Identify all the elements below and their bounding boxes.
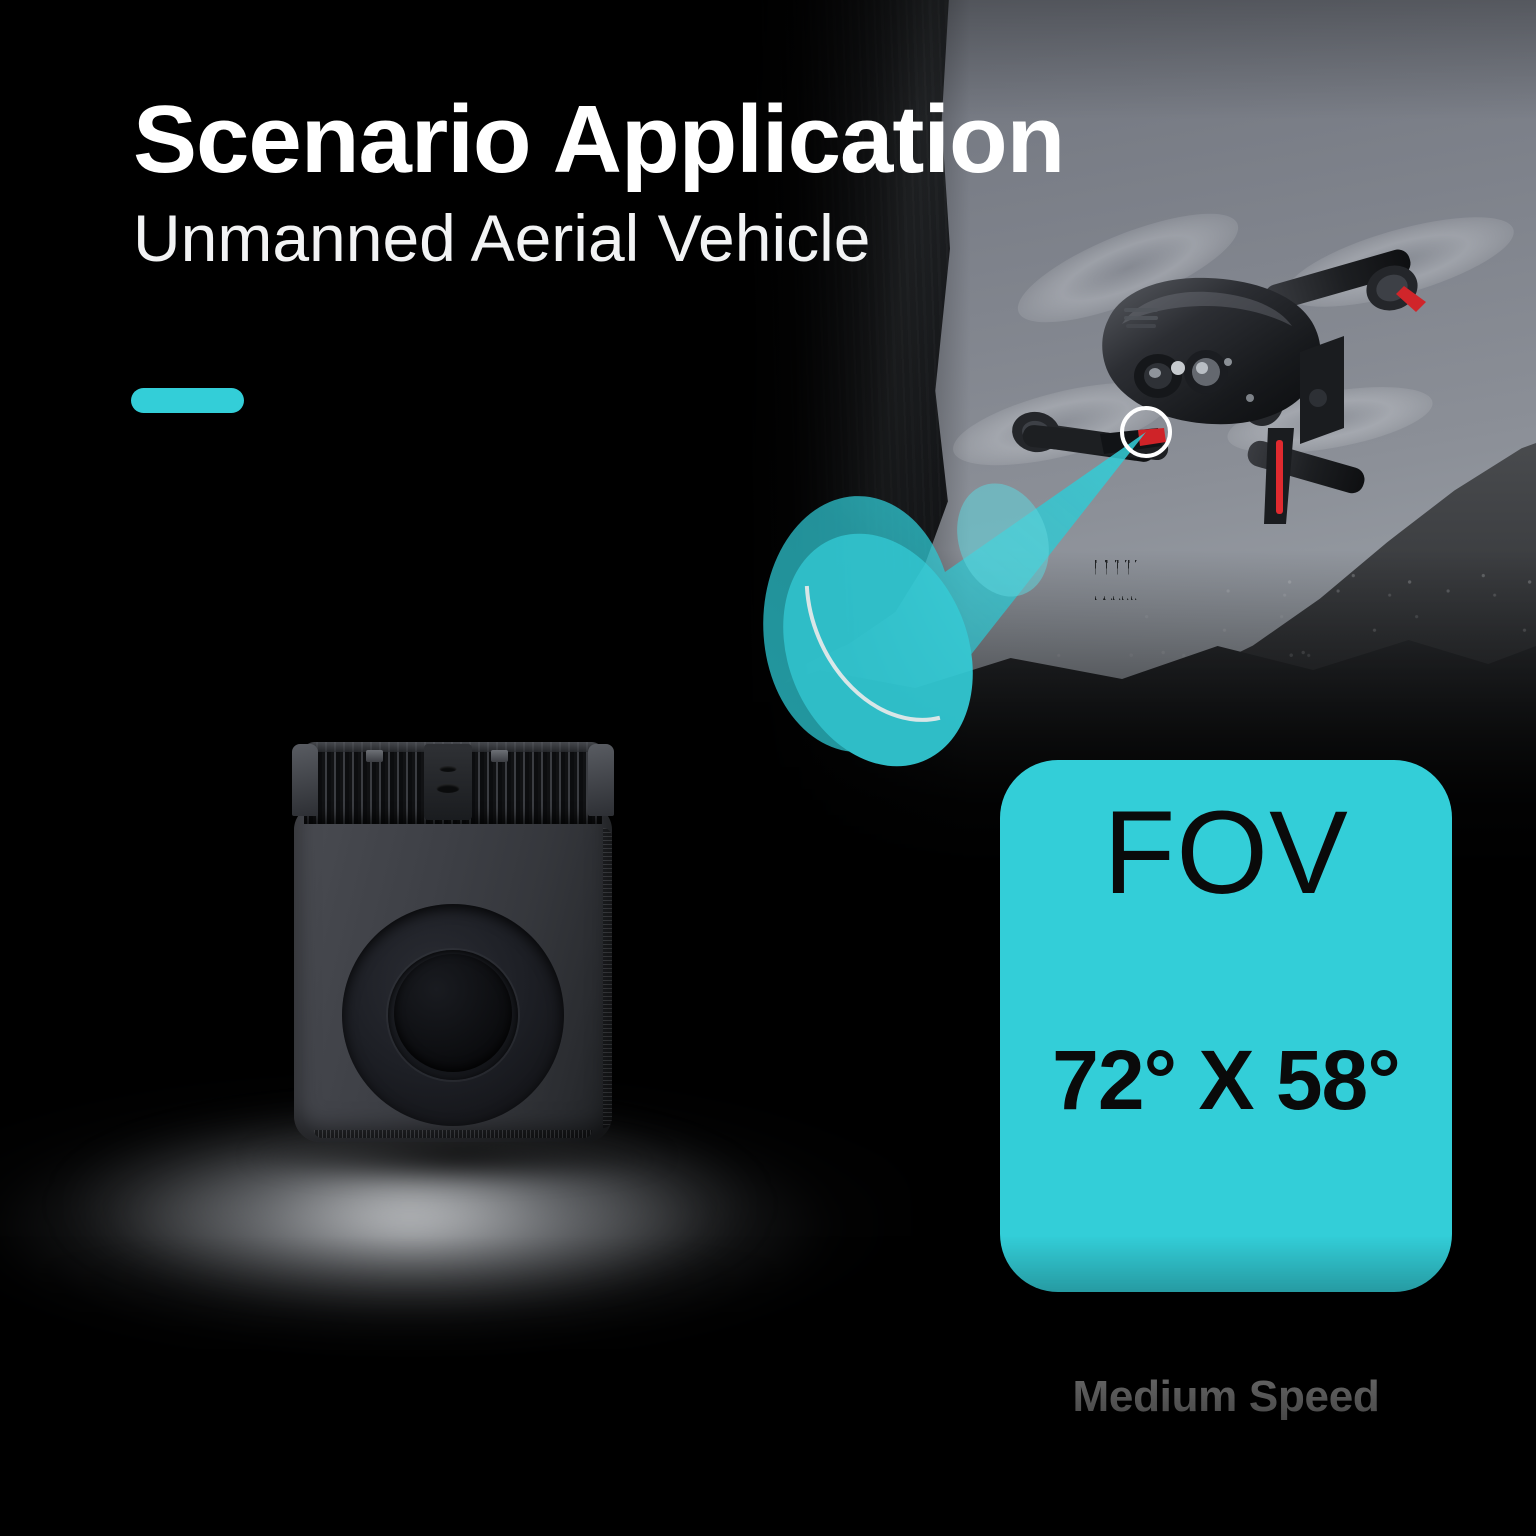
camera-side-ribs xyxy=(603,828,612,1128)
speed-caption: Medium Speed xyxy=(1000,1372,1452,1422)
camera-badge-right xyxy=(491,750,508,762)
fov-badge: FOV 72° X 58° xyxy=(1000,760,1452,1292)
accent-bar xyxy=(131,388,244,413)
camera-left-tab xyxy=(292,744,318,816)
page-subtitle: Unmanned Aerial Vehicle xyxy=(133,202,870,275)
camera-port-small xyxy=(440,766,457,772)
fov-badge-value: 72° X 58° xyxy=(1000,1038,1452,1122)
camera-connector-block xyxy=(424,744,472,820)
page-title: Scenario Application xyxy=(133,90,1064,190)
camera-port-large xyxy=(437,784,460,793)
fov-badge-title: FOV xyxy=(1103,794,1349,912)
camera-right-tab xyxy=(588,744,614,816)
thermal-camera-module xyxy=(288,742,618,1142)
camera-bottom-ribs xyxy=(314,1130,592,1138)
camera-badge-left xyxy=(366,750,383,762)
camera-lens-glass xyxy=(394,954,512,1072)
poster-canvas: Scenario Application Unmanned Aerial Veh… xyxy=(0,0,1536,1536)
